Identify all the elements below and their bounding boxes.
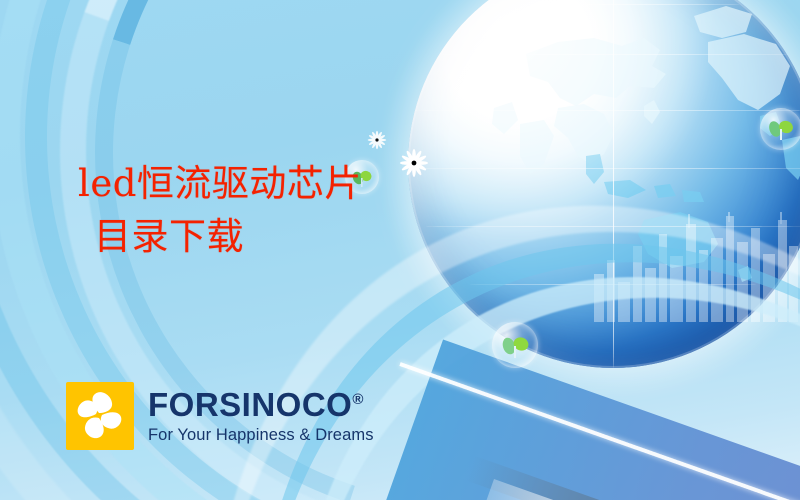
headline-line-2: 目录下载	[94, 213, 362, 260]
logo-tagline: For Your Happiness & Dreams	[148, 427, 374, 444]
headline-line-1: led恒流驱动芯片	[78, 160, 362, 207]
globe-parallel-3	[412, 110, 800, 111]
logo-wordmark-text: FORSINOCO	[148, 386, 352, 423]
four-petal-pinwheel-icon	[66, 382, 134, 450]
brand-logo: FORSINOCO® For Your Happiness & Dreams	[66, 382, 374, 450]
bubble-leaf-right	[760, 108, 800, 150]
leaf-icon	[492, 322, 538, 368]
logo-mark	[66, 382, 134, 450]
promo-banner: led恒流驱动芯片 目录下载 FORSINOCO® For Your Happi…	[0, 0, 800, 500]
bubble-leaf-center	[492, 322, 538, 368]
logo-wordmark: FORSINOCO®	[148, 388, 374, 421]
headline: led恒流驱动芯片 目录下载	[78, 160, 362, 261]
registered-trademark-icon: ®	[352, 391, 364, 408]
leaf-icon	[760, 108, 800, 150]
globe-parallel-4	[408, 168, 800, 169]
logo-text: FORSINOCO® For Your Happiness & Dreams	[148, 388, 374, 444]
